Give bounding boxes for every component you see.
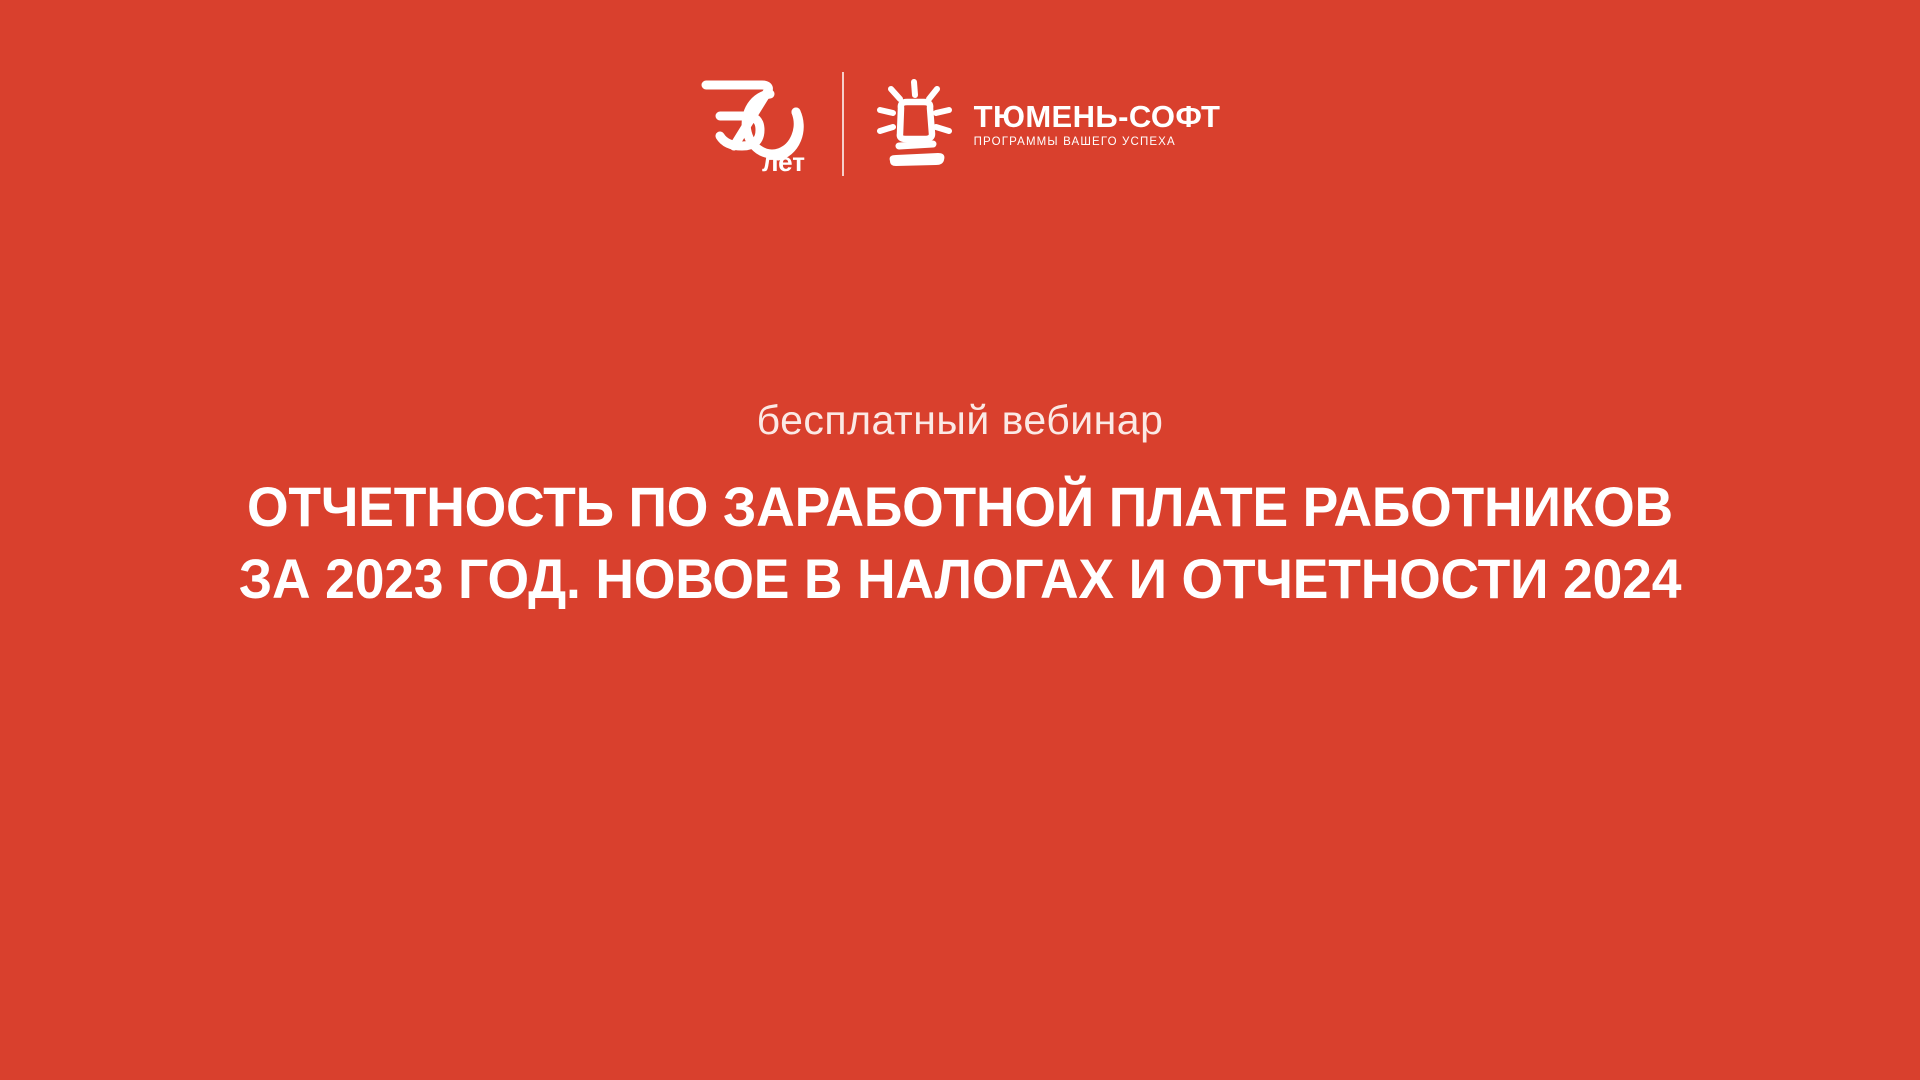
headline-line-1: ОТЧЕТНОСТЬ ПО ЗАРАБОТНОЙ ПЛАТЕ РАБОТНИКО… [81,471,1838,543]
slide-content: бесплатный вебинар ОТЧЕТНОСТЬ ПО ЗАРАБОТ… [0,398,1920,614]
anniversary-30-years-logo: лет [700,72,818,176]
brand-name: ТЮМЕНЬ-СОФТ [974,101,1221,132]
beacon-lamp-icon [874,78,956,170]
anniversary-unit-label: лет [762,147,805,176]
brand-text: ТЮМЕНЬ-СОФТ ПРОГРАММЫ ВАШЕГО УСПЕХА [974,99,1221,149]
webinar-title-slide: { "theme": { "background_color": "#d9402… [0,0,1920,1080]
headline-line-2: ЗА 2023 ГОД. НОВОЕ В НАЛОГАХ И ОТЧЕТНОСТ… [81,543,1838,615]
kicker-label: бесплатный вебинар [40,398,1880,443]
logo-bar: лет [0,72,1920,176]
brand-tagline: ПРОГРАММЫ ВАШЕГО УСПЕХА [974,137,1221,149]
page-title: ОТЧЕТНОСТЬ ПО ЗАРАБОТНОЙ ПЛАТЕ РАБОТНИКО… [81,471,1838,614]
logo-divider [842,72,844,176]
brand-block: ТЮМЕНЬ-СОФТ ПРОГРАММЫ ВАШЕГО УСПЕХА [874,78,1221,170]
